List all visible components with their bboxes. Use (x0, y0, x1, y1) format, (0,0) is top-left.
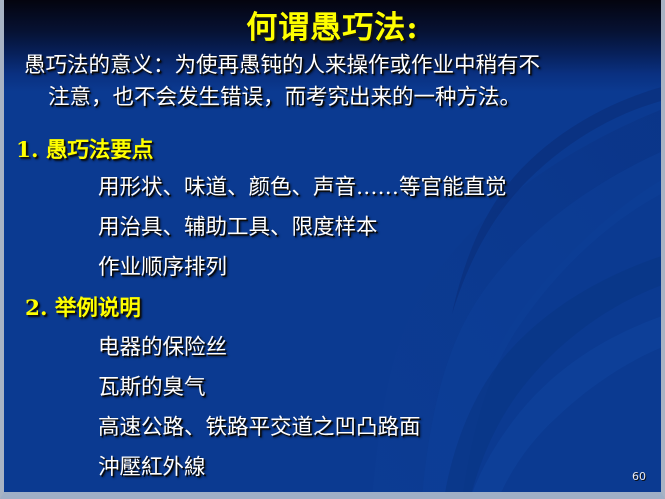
bullet-item-1-3: 作业顺序排列 (98, 250, 227, 281)
slide-title: 何谓愚巧法: (0, 2, 665, 47)
bullet-item-2-4: 沖壓紅外線 (98, 450, 206, 481)
bullet-item-1-2: 用治具、辅助工具、限度样本 (98, 210, 378, 241)
definition-paragraph: 愚巧法的意义：为使再愚钝的人来操作或作业中稍有不 注意，也不会发生错误，而考究出… (24, 50, 642, 114)
presentation-slide: 何谓愚巧法: 愚巧法的意义：为使再愚钝的人来操作或作业中稍有不 注意，也不会发生… (0, 0, 665, 499)
section-heading-2: 2. 举例说明 (25, 291, 141, 322)
bullet-item-2-2: 瓦斯的臭气 (98, 370, 206, 401)
definition-line-1: 愚巧法的意义：为使再愚钝的人来操作或作业中稍有不 (24, 53, 540, 78)
bullet-item-2-1: 电器的保险丝 (98, 330, 227, 361)
bullet-item-2-3: 高速公路、铁路平交道之凹凸路面 (98, 410, 421, 441)
section-heading-1: 1. 愚巧法要点 (16, 133, 153, 164)
bullet-item-1-1: 用形状、味道、颜色、声音……等官能直觉 (98, 170, 507, 201)
slide-page-number: 60 (632, 470, 646, 483)
definition-line-2: 注意，也不会发生错误，而考究出来的一种方法。 (24, 82, 642, 114)
